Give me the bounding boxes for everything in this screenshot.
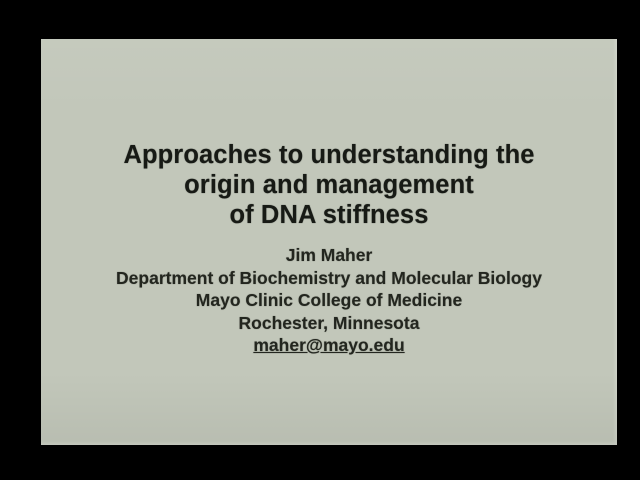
presentation-slide: Approaches to understanding the origin a… bbox=[41, 39, 617, 445]
slide-title-line-2: origin and management bbox=[41, 170, 617, 200]
letterbox-bottom-bar bbox=[0, 445, 640, 480]
author-name: Jim Maher bbox=[41, 244, 617, 267]
author-email-link[interactable]: maher@mayo.edu bbox=[41, 334, 617, 357]
letterbox-left-bar bbox=[0, 0, 41, 480]
video-frame: Approaches to understanding the origin a… bbox=[0, 0, 640, 480]
letterbox-right-bar bbox=[617, 0, 640, 480]
author-institution: Mayo Clinic College of Medicine bbox=[41, 289, 617, 312]
slide-title-line-1: Approaches to understanding the bbox=[41, 140, 617, 170]
slide-title: Approaches to understanding the origin a… bbox=[41, 140, 617, 230]
letterbox-top-bar bbox=[0, 0, 640, 39]
author-block: Jim Maher Department of Biochemistry and… bbox=[41, 244, 617, 357]
author-department: Department of Biochemistry and Molecular… bbox=[41, 267, 617, 290]
slide-title-line-3: of DNA stiffness bbox=[41, 200, 617, 230]
author-location: Rochester, Minnesota bbox=[41, 312, 617, 335]
